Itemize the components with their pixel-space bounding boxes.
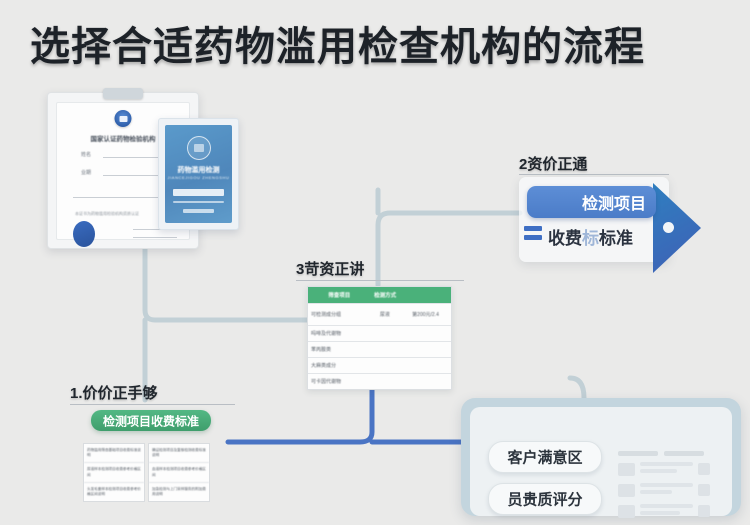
row-status-icon (698, 505, 710, 517)
section-1-right-box: 确证检测项目及复核检测收费标准说明 (149, 444, 209, 463)
certificate-signature-line-2 (133, 237, 177, 238)
section-1-left-box: 头发毛囊样本检测项目收费参考价格区间说明 (84, 483, 144, 501)
infographic-canvas: 选择合适药物滥用检查机构的流程 国家认证药物检验机构 姓名 业期 本证书为药物滥… (0, 0, 750, 500)
row-status-icon (698, 484, 710, 496)
fee-standard-banner-label: 检测项目收费标准 (103, 412, 199, 429)
fee-label-tail: 标准 (599, 229, 633, 248)
table-cell: 吗啡及代谢物 (308, 326, 370, 341)
blue-certificate-card: 药物滥用检测 JIANCEJIGOU ZHENGSHU (158, 118, 239, 230)
section-1-title: 价价正手够 (83, 385, 158, 402)
detection-items-pill[interactable]: 检测项目 (527, 186, 656, 218)
table-cell (370, 326, 400, 341)
section-2-title: 资价正通 (527, 156, 587, 173)
table-row: 可检测成分组 尿液 第200元/2.4 (308, 303, 451, 325)
wire-monitor-stub (570, 378, 584, 398)
staff-quality-score-label: 员贵质评分 (507, 489, 582, 510)
section-3-heading: 3苛资正讲 (296, 258, 364, 279)
evaluation-panel: 客户满意区 员贵质评分 (461, 398, 741, 516)
table-row: 苯丙胺类 (308, 341, 451, 357)
blue-doc-subtitle: JIANCEJIGOU ZHENGSHU (165, 175, 232, 180)
section-1-left-box: 尿液样本检测项目收费参考价格区间 (84, 463, 144, 482)
section-3-title: 苛资正讲 (304, 261, 364, 278)
section-1-left-box-group: 药物滥用筛查基础项目收费标准说明 尿液样本检测项目收费参考价格区间 头发毛囊样本… (83, 443, 145, 502)
section-1-heading: 1.价价正手够 (70, 382, 158, 403)
certificate-stamp (73, 221, 95, 247)
table-row: 大麻类成分 (308, 357, 451, 373)
detection-items-label: 检测项目 (582, 190, 646, 214)
certificate-note: 本证书为药物滥用检验机构资质认证 (75, 211, 139, 217)
table-cell (400, 358, 451, 373)
row-thumb-icon (618, 505, 635, 518)
table-row: 吗啡及代谢物 (308, 325, 451, 341)
row-status-icon (698, 463, 710, 475)
section-1-right-box-group: 确证检测项目及复核检测收费标准说明 血液样本检测项目收费参考价格区间 加急检测与… (148, 443, 210, 502)
staff-quality-score-pill[interactable]: 员贵质评分 (488, 483, 602, 515)
blue-doc-bar-3 (183, 209, 214, 213)
fee-standard-label: 收费标标准 (548, 224, 633, 249)
customer-satisfaction-label: 客户满意区 (507, 447, 582, 468)
blue-certificate-face: 药物滥用检测 JIANCEJIGOU ZHENGSHU (165, 125, 232, 223)
row-thumb-icon (618, 484, 635, 497)
section-2-rule (519, 174, 669, 175)
fee-standard-banner[interactable]: 检测项目收费标准 (91, 410, 211, 431)
evaluation-list-header (618, 451, 710, 456)
equals-bars-icon (524, 226, 542, 244)
table-col-header-0: 筛查项目 (308, 287, 370, 303)
table-cell: 可检测成分组 (308, 304, 370, 325)
section-2-heading: 2资价正通 (519, 153, 587, 174)
table-cell (400, 342, 451, 357)
row-lines (640, 483, 693, 497)
table-cell (400, 374, 451, 389)
seal-icon (187, 136, 211, 160)
wire-bottom-blue-left (228, 390, 372, 442)
evaluation-records-list (618, 451, 710, 525)
fee-label-head: 收费 (548, 229, 582, 248)
table-row: 可卡因代谢物 (308, 373, 451, 389)
evaluation-list-row (618, 483, 710, 497)
row-thumb-icon (618, 463, 635, 476)
clipboard-clamp (103, 88, 143, 99)
qualification-table: 筛查项目 检测方式 可检测成分组 尿液 第200元/2.4 吗啡及代谢物 苯丙胺… (307, 286, 452, 390)
table-cell (370, 374, 400, 389)
table-cell (370, 358, 400, 373)
blue-doc-title: 药物滥用检测 (165, 165, 232, 175)
table-cell (400, 326, 451, 341)
table-col-header-2 (400, 287, 451, 303)
blue-doc-bar-2 (173, 201, 224, 203)
table-cell: 尿液 (370, 304, 400, 325)
section-3-rule (296, 280, 464, 281)
fee-watermark: 标 (582, 229, 599, 248)
section-1-right-box: 血液样本检测项目收费参考价格区间 (149, 463, 209, 482)
row-lines (640, 504, 693, 518)
evaluation-list-row (618, 504, 710, 518)
section-1-rule (70, 404, 235, 405)
wire-to-section2 (378, 213, 520, 285)
certificate-field-2-label: 业期 (81, 169, 91, 176)
evaluation-list-row (618, 462, 710, 476)
next-step-arrow-dot (663, 222, 674, 233)
blue-doc-bar-1 (173, 189, 224, 196)
section-1-number: 1. (70, 385, 83, 402)
table-cell: 苯丙胺类 (308, 342, 370, 357)
national-emblem-icon (115, 110, 132, 127)
table-cell: 可卡因代谢物 (308, 374, 370, 389)
table-cell (370, 342, 400, 357)
table-cell: 大麻类成分 (308, 358, 370, 373)
table-col-header-1: 检测方式 (370, 287, 399, 303)
row-lines (640, 462, 693, 476)
section-1-right-box: 加急检测与上门采样服务的附加费用说明 (149, 483, 209, 501)
customer-satisfaction-pill[interactable]: 客户满意区 (488, 441, 602, 473)
section-1-left-box: 药物滥用筛查基础项目收费标准说明 (84, 444, 144, 463)
table-header-row: 筛查项目 检测方式 (308, 287, 451, 303)
certificate-field-1-label: 姓名 (81, 151, 91, 158)
table-cell: 第200元/2.4 (400, 304, 451, 325)
